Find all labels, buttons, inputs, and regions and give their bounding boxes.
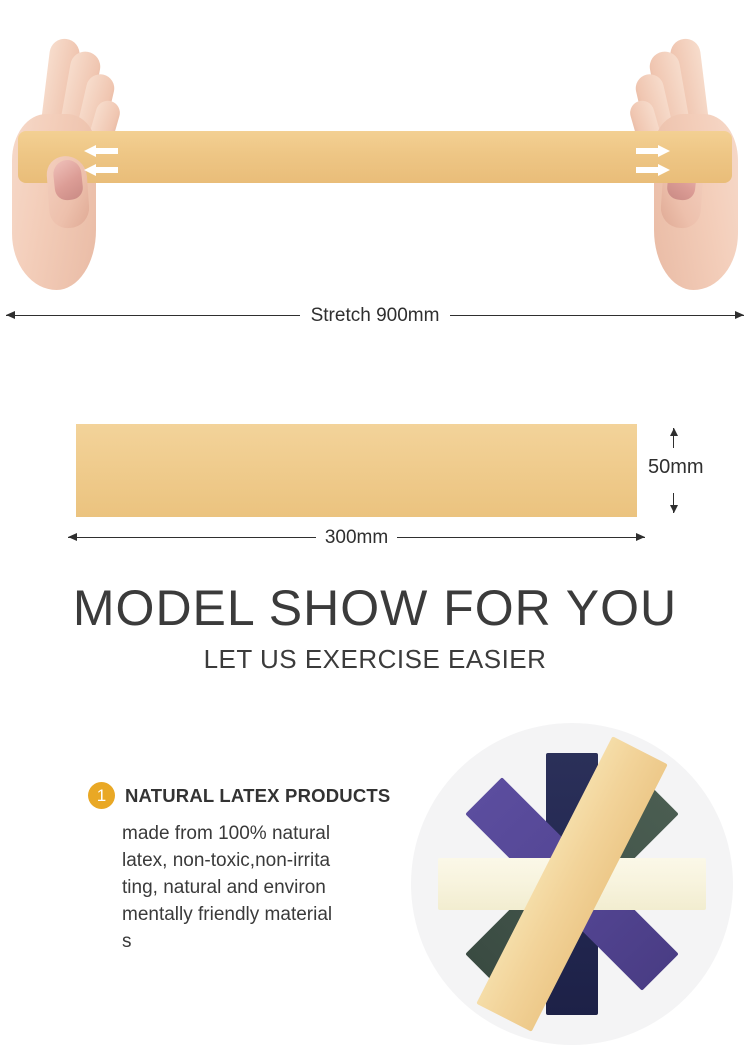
feature-heading-row: 1 NATURAL LATEX PRODUCTS: [88, 782, 418, 809]
feature-title: NATURAL LATEX PRODUCTS: [125, 785, 390, 807]
width-dimension-line: 300mm: [68, 528, 645, 546]
arrow-right-icon: [636, 145, 670, 156]
stretch-dimension-line: Stretch 900mm: [6, 306, 744, 324]
hero-band-photo: [0, 0, 750, 300]
dimension-rule-right: [450, 315, 744, 316]
width-dimension-label: 300mm: [316, 528, 397, 547]
feature-item-1: 1 NATURAL LATEX PRODUCTS made from 100% …: [88, 782, 418, 956]
flat-latex-band: [76, 424, 637, 517]
page-title: MODEL SHOW FOR YOU: [0, 583, 750, 633]
feature-number-badge: 1: [88, 782, 115, 809]
arrow-left-icon: [84, 164, 118, 175]
arrow-down-icon: [673, 493, 674, 513]
arrow-right-icon: [636, 164, 670, 175]
height-dimension-line: 50mm: [655, 424, 735, 517]
stretched-latex-band: [18, 131, 732, 183]
dimension-rule-left: [68, 537, 316, 538]
stretch-dimension-label: Stretch 900mm: [300, 306, 451, 325]
dimension-rule-left: [6, 315, 300, 316]
product-color-variants-collage: [411, 723, 733, 1045]
height-dimension-label: 50mm: [648, 457, 704, 477]
dimension-rule-right: [397, 537, 645, 538]
feature-description: made from 100% natural latex, non-toxic,…: [122, 821, 334, 956]
arrow-left-icon: [84, 145, 118, 156]
arrow-up-icon: [673, 428, 674, 448]
page-subtitle: LET US EXERCISE EASIER: [0, 646, 750, 672]
